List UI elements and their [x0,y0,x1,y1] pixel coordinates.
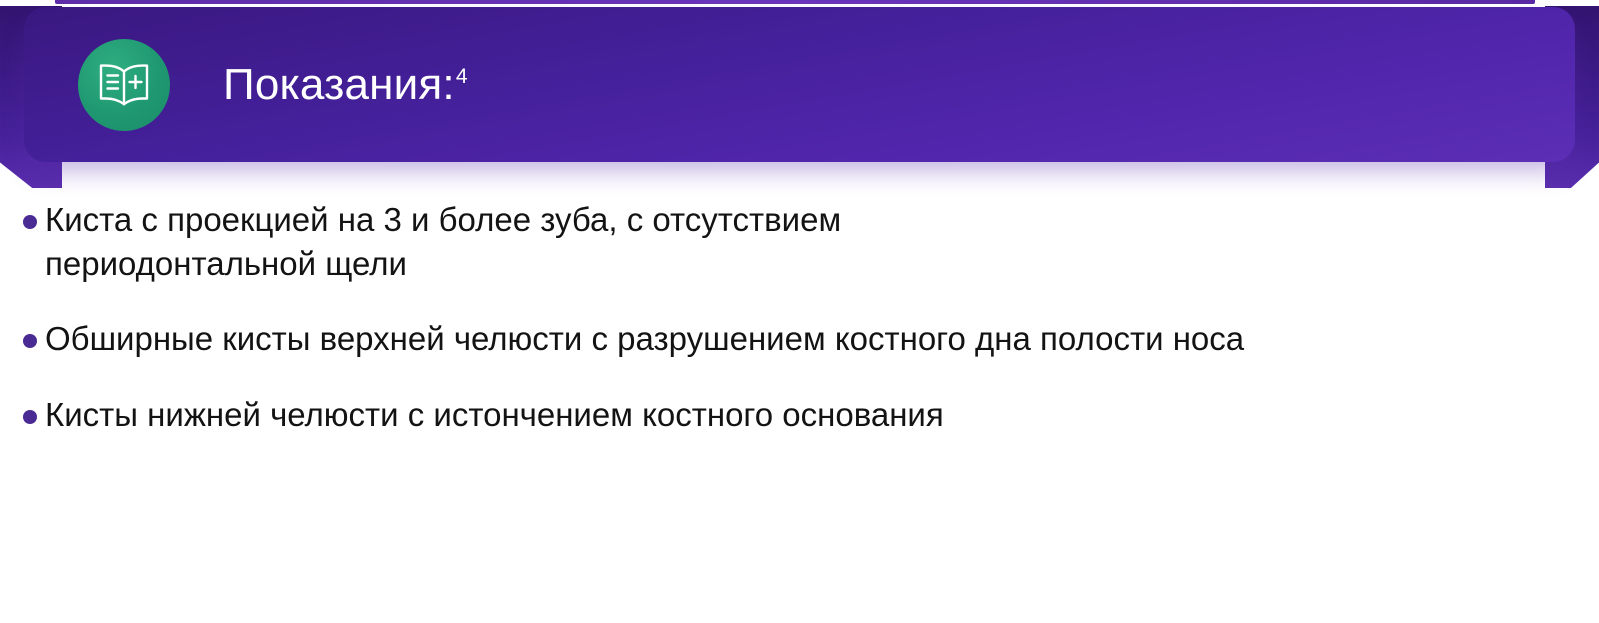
list-item: Кисты нижней челюсти с истончением костн… [0,393,1295,437]
list-item-text: Обширные кисты верхней челюсти с разруше… [45,320,1244,357]
indications-list-container: Киста с проекцией на 3 и более зуба, с о… [0,198,1599,436]
page-title-text: Показания: [223,60,455,109]
bullet-dot-icon [23,334,37,348]
bullet-dot-icon [23,410,37,424]
list-item: Киста с проекцией на 3 и более зуба, с о… [0,198,1065,285]
bullet-dot-icon [23,215,37,229]
indications-list: Киста с проекцией на 3 и более зуба, с о… [0,198,1599,436]
open-book-medical-icon-glyph [97,62,151,108]
slide-root: { "banner": { "title": "Показания:", "su… [0,0,1599,623]
list-item-text: Кисты нижней челюсти с истончением костн… [45,396,944,433]
page-title-footnote-ref: 4 [456,65,468,88]
section-header-banner: Показания:4 [24,7,1575,162]
open-book-medical-icon [78,39,170,131]
list-item-text: Киста с проекцией на 3 и более зуба, с о… [45,201,841,282]
list-item: Обширные кисты верхней челюсти с разруше… [0,317,1275,361]
page-title: Показания:4 [223,63,468,107]
